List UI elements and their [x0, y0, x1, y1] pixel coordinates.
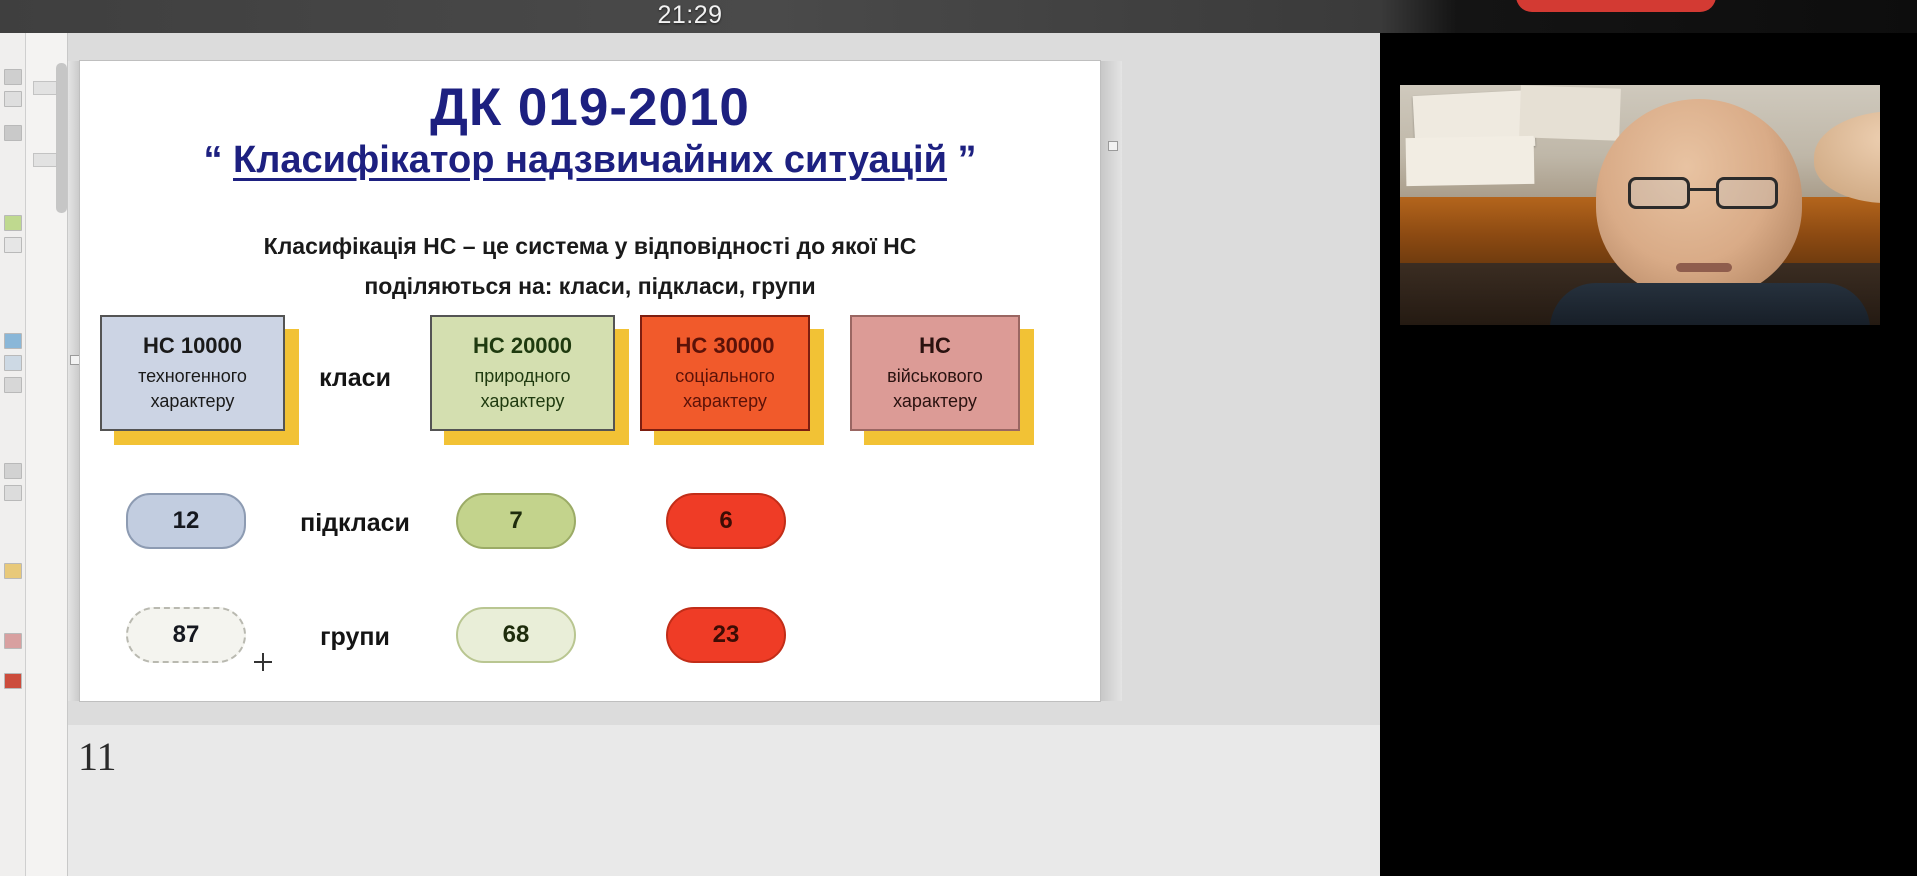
slide-thumbnail-rail[interactable]	[26, 33, 68, 876]
class-box-4: НС військового характеру	[850, 315, 1020, 431]
tool-icon-10[interactable]	[4, 485, 22, 501]
thumbnail-scrollbar[interactable]	[56, 63, 67, 213]
video-paper-3	[1406, 136, 1535, 186]
tool-icon-9[interactable]	[4, 463, 22, 479]
subtitle-open-quote: “	[203, 139, 222, 181]
screen-root: 21:29	[0, 0, 1917, 876]
class-box-line1: техногенного	[138, 364, 247, 389]
class-box-2: НС 20000 природного характеру	[430, 315, 615, 431]
slide-resize-handle-left[interactable]	[70, 355, 80, 365]
record-button[interactable]	[1516, 0, 1716, 12]
pointer-cursor-icon	[254, 653, 272, 671]
tool-icon-4[interactable]	[4, 215, 22, 231]
slide-number-label: 11	[78, 733, 117, 780]
class-box-line2: характеру	[481, 389, 565, 414]
description-line-2: поділяються на: класи, підкласи, групи	[80, 266, 1100, 306]
tool-icon-8[interactable]	[4, 377, 22, 393]
class-box-line1: природного	[474, 364, 570, 389]
subclass-pill-3: 6	[666, 493, 786, 549]
class-box-code: НС 20000	[473, 333, 572, 359]
webcam-panel	[1380, 33, 1917, 876]
tool-icon-2[interactable]	[4, 91, 22, 107]
class-box-code: НС 30000	[675, 333, 774, 359]
row-label-subclasses: підкласи	[280, 509, 430, 538]
glasses-lens-left	[1628, 177, 1690, 209]
tool-icon-6[interactable]	[4, 333, 22, 349]
thumbnail-item[interactable]	[33, 81, 57, 95]
video-paper-2	[1519, 85, 1621, 140]
class-box-body: НС 20000 природного характеру	[430, 315, 615, 431]
slide-description: Класифікація НС – це система у відповідн…	[80, 226, 1100, 306]
thumbnail-item[interactable]	[33, 153, 57, 167]
class-box-body: НС 30000 соціального характеру	[640, 315, 810, 431]
row-label-groups: групи	[280, 623, 430, 652]
class-box-3: НС 30000 соціального характеру	[640, 315, 810, 431]
glasses-bridge	[1690, 188, 1718, 191]
tool-icon-3[interactable]	[4, 125, 22, 141]
class-box-body: НС 10000 техногенного характеру	[100, 315, 285, 431]
class-box-line2: характеру	[893, 389, 977, 414]
tool-icon-12[interactable]	[4, 633, 22, 649]
class-box-body: НС військового характеру	[850, 315, 1020, 431]
class-box-1: НС 10000 техногенного характеру	[100, 315, 285, 431]
top-system-bar: 21:29	[0, 0, 1917, 33]
subtitle-close-quote: ”	[958, 139, 977, 181]
presentation-window: ДК 019-2010 “ Класифікатор надзвичайних …	[0, 33, 1380, 876]
group-pill-2: 68	[456, 607, 576, 663]
tool-icon-5[interactable]	[4, 237, 22, 253]
slide-title: ДК 019-2010	[80, 77, 1100, 138]
webcam-video[interactable]	[1400, 85, 1880, 325]
video-person-shoulders	[1550, 283, 1870, 325]
group-pill-1: 87	[126, 607, 246, 663]
group-pill-3: 23	[666, 607, 786, 663]
subtitle-text: Класифікатор надзвичайних ситуацій	[233, 139, 947, 181]
video-person-glasses-icon	[1624, 177, 1792, 211]
subclass-pill-1: 12	[126, 493, 246, 549]
class-box-line1: військового	[887, 364, 983, 389]
tool-icon-1[interactable]	[4, 69, 22, 85]
class-box-line2: характеру	[151, 389, 235, 414]
presentation-bottom-bar	[68, 725, 1380, 876]
class-box-code: НС	[919, 333, 951, 359]
tool-icon-7[interactable]	[4, 355, 22, 371]
subclass-pill-2: 7	[456, 493, 576, 549]
tool-icon-11[interactable]	[4, 563, 22, 579]
slide-resize-handle-right[interactable]	[1108, 141, 1118, 151]
description-line-1: Класифікація НС – це система у відповідн…	[80, 226, 1100, 266]
tool-strip	[0, 33, 26, 876]
class-box-line1: соціального	[675, 364, 775, 389]
clock-label: 21:29	[0, 0, 1380, 33]
class-box-code: НС 10000	[143, 333, 242, 359]
slide-right-gutter	[1100, 61, 1122, 701]
class-box-line2: характеру	[683, 389, 767, 414]
slide-content: ДК 019-2010 “ Класифікатор надзвичайних …	[80, 61, 1100, 701]
tool-icon-13[interactable]	[4, 673, 22, 689]
slide-subtitle: “ Класифікатор надзвичайних ситуацій ”	[80, 139, 1100, 182]
slide-left-gutter	[68, 61, 80, 701]
glasses-lens-right	[1716, 177, 1778, 209]
row-label-classes: класи	[285, 364, 425, 393]
video-person-mouth	[1676, 263, 1732, 272]
webcam-empty-area	[1380, 325, 1917, 876]
